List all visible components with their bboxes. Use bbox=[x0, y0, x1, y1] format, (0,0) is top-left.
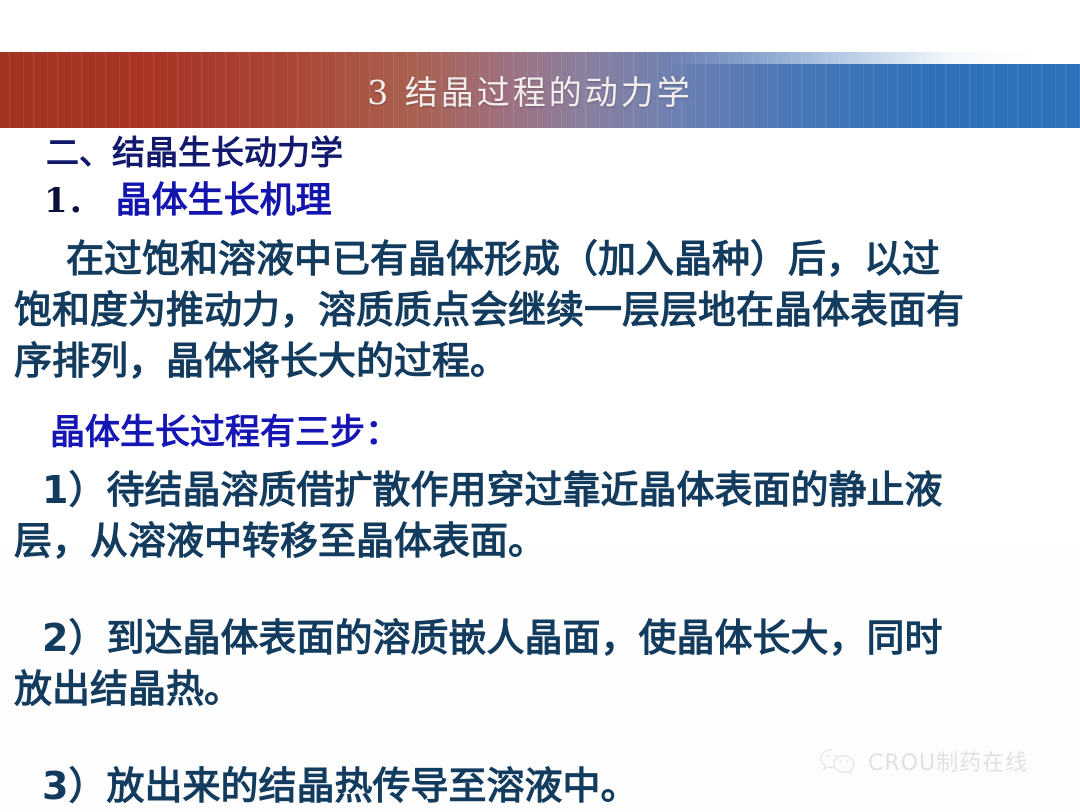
header-banner: 3 结晶过程的动力学 bbox=[0, 52, 1080, 128]
subsection-label: 晶体生长机理 bbox=[116, 180, 332, 221]
steps-heading: 晶体生长过程有三步： bbox=[14, 409, 1068, 457]
step-1-line-1: 1）待结晶溶质借扩散作用穿过靠近晶体表面的静止液 bbox=[14, 465, 1068, 516]
paragraph-line-1: 在过饱和溶液中已有晶体形成（加入晶种）后，以过 bbox=[14, 234, 1068, 285]
wechat-icon bbox=[818, 747, 858, 775]
watermark-text: CROU制药在线 bbox=[868, 745, 1028, 777]
subsection-heading: 1．晶体生长机理 bbox=[14, 176, 1068, 226]
step-2-line-1: 2）到达晶体表面的溶质嵌人晶面，使晶体长大，同时 bbox=[14, 613, 1068, 664]
step-2-line-2: 放出结晶热。 bbox=[14, 664, 1068, 715]
slide-body: 二、结晶生长动力学 1．晶体生长机理 在过饱和溶液中已有晶体形成（加入晶种）后，… bbox=[0, 130, 1080, 812]
slide: 3 结晶过程的动力学 二、结晶生长动力学 1．晶体生长机理 在过饱和溶液中已有晶… bbox=[0, 0, 1080, 810]
watermark: CROU制药在线 bbox=[818, 745, 1028, 777]
paragraph-line-2: 饱和度为推动力，溶质质点会继续一层层地在晶体表面有 bbox=[14, 285, 1068, 336]
step-1-line-2: 层，从溶液中转移至晶体表面。 bbox=[14, 516, 1068, 567]
subsection-number: 1． bbox=[44, 181, 116, 221]
paragraph-line-3: 序排列，晶体将长大的过程。 bbox=[14, 336, 1068, 387]
page-title: 3 结晶过程的动力学 bbox=[0, 52, 1080, 128]
section-heading: 二、结晶生长动力学 bbox=[14, 130, 1068, 176]
